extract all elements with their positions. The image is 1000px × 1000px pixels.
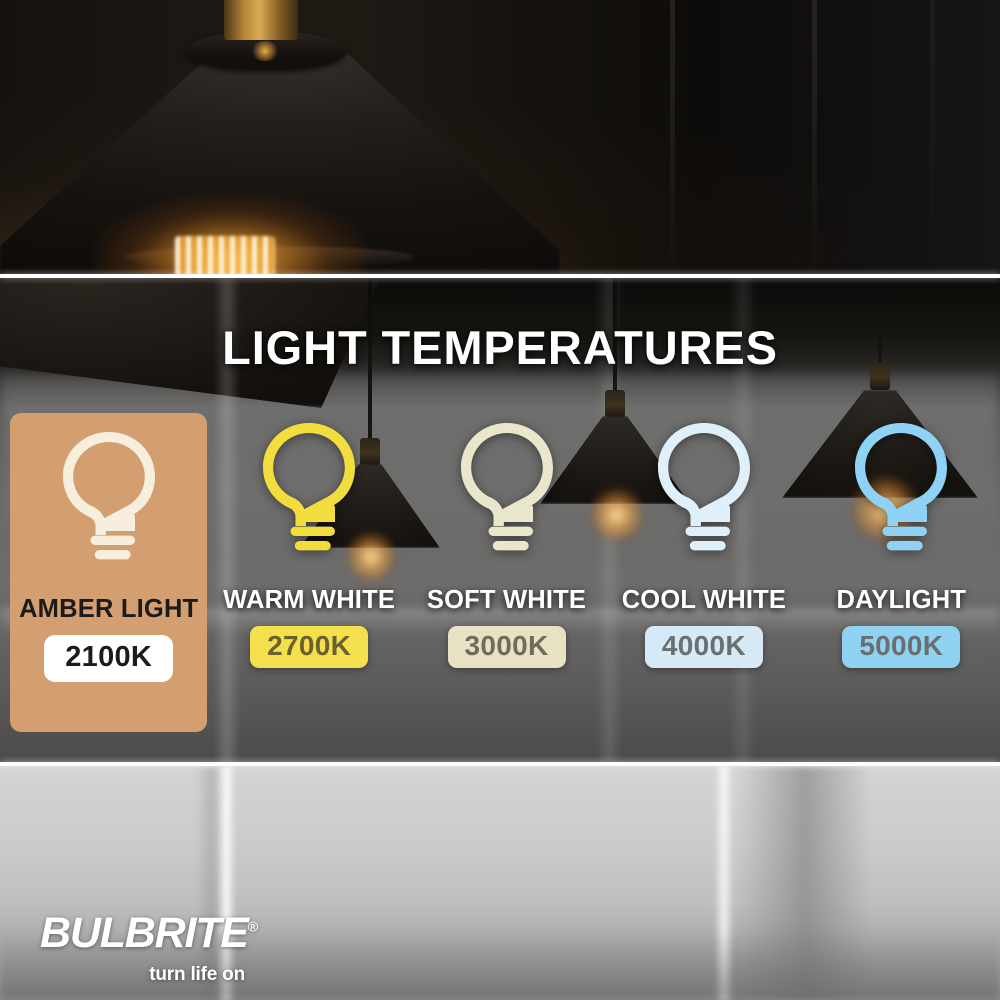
lightbulb-icon xyxy=(250,418,368,568)
card-label: DAYLIGHT xyxy=(837,586,967,615)
card-label: COOL WHITE xyxy=(622,586,786,615)
kelvin-badge: 4000K xyxy=(645,626,763,668)
kelvin-badge: 2700K xyxy=(250,626,368,668)
lightbulb-icon xyxy=(448,418,566,568)
temperature-card-daylight[interactable]: DAYLIGHT 5000K xyxy=(803,410,1000,732)
card-label: AMBER LIGHT xyxy=(19,595,198,624)
temperature-card-warm-white[interactable]: WARM WHITE 2700K xyxy=(210,410,407,732)
filament-bulb xyxy=(175,236,275,276)
brand-name: BULBRITE xyxy=(40,909,248,957)
kelvin-badge: 2100K xyxy=(44,635,173,682)
pendant-brass-stem xyxy=(224,0,298,40)
temperature-card-cool-white[interactable]: COOL WHITE 4000K xyxy=(605,410,802,732)
hanging-cord xyxy=(670,0,675,276)
temperature-card-amber-light[interactable]: AMBER LIGHT 2100K xyxy=(10,413,207,732)
lightbulb-icon xyxy=(50,427,168,577)
infographic-canvas: LIGHT TEMPERATURES AMBER LIGHT 2100K xyxy=(0,0,1000,1000)
lightbulb-icon xyxy=(842,418,960,568)
temperature-card-soft-white[interactable]: SOFT WHITE 3000K xyxy=(408,410,605,732)
temperature-card-row: AMBER LIGHT 2100K WARM WHITE 2700K xyxy=(0,410,1000,732)
hanging-cord xyxy=(930,0,935,276)
divider-bottom xyxy=(0,762,1000,766)
kelvin-badge: 3000K xyxy=(448,626,566,668)
brand-wordmark: BULBRITE® xyxy=(40,912,340,955)
card-label: SOFT WHITE xyxy=(427,586,586,615)
brand-logo: BULBRITE® turn life on xyxy=(40,912,340,986)
brand-tagline: turn life on xyxy=(40,964,245,986)
lightbulb-icon xyxy=(645,418,763,568)
photo-top-pendant-scene xyxy=(0,0,1000,276)
kelvin-badge: 5000K xyxy=(842,626,960,668)
card-label: WARM WHITE xyxy=(223,586,395,615)
divider-top xyxy=(0,274,1000,278)
hanging-cord xyxy=(812,0,817,276)
registered-mark: ® xyxy=(248,919,258,935)
page-title: LIGHT TEMPERATURES xyxy=(0,320,1000,375)
